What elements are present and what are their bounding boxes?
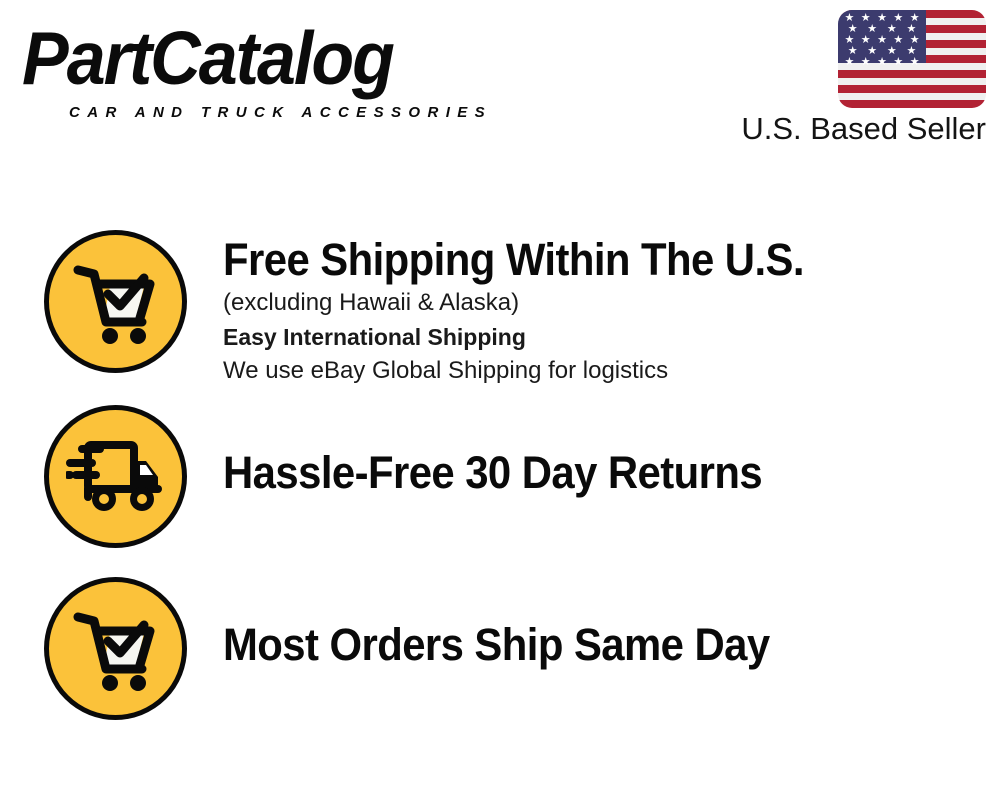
- feature-subdetail: We use eBay Global Shipping for logistic…: [223, 354, 1000, 388]
- feature-title: Hassle-Free 30 Day Returns: [223, 447, 946, 499]
- flag-canton: ★★★★★ ★★★★ ★★★★★ ★★★★ ★★★★★: [838, 10, 926, 63]
- delivery-truck-icon: [44, 405, 187, 548]
- feature-row: Hassle-Free 30 Day Returns: [0, 405, 1000, 577]
- brand-wordmark: PartCatalog: [22, 18, 492, 98]
- feature-title: Most Orders Ship Same Day: [223, 619, 946, 671]
- us-flag-icon: ★★★★★ ★★★★ ★★★★★ ★★★★ ★★★★★: [838, 10, 986, 108]
- brand-logo[interactable]: PartCatalog CAR AND TRUCK ACCESSORIES: [22, 18, 492, 118]
- feature-text: Free Shipping Within The U.S. (excluding…: [187, 230, 1000, 388]
- feature-row: Most Orders Ship Same Day: [0, 577, 1000, 752]
- us-based-seller-badge: ★★★★★ ★★★★ ★★★★★ ★★★★ ★★★★★ U.S. Based S…: [686, 10, 986, 148]
- seller-label: U.S. Based Seller: [686, 110, 986, 148]
- feature-subheading: Easy International Shipping: [223, 320, 1000, 354]
- feature-list: Free Shipping Within The U.S. (excluding…: [0, 230, 1000, 752]
- promo-banner: PartCatalog CAR AND TRUCK ACCESSORIES ★★…: [0, 0, 1000, 800]
- feature-subnote: (excluding Hawaii & Alaska): [223, 286, 1000, 320]
- shopping-cart-check-icon: [44, 230, 187, 373]
- brand-tagline: CAR AND TRUCK ACCESSORIES: [69, 104, 492, 122]
- feature-text: Most Orders Ship Same Day: [187, 577, 1000, 671]
- shopping-cart-check-icon: [44, 577, 187, 720]
- feature-text: Hassle-Free 30 Day Returns: [187, 405, 1000, 499]
- feature-title: Free Shipping Within The U.S.: [223, 234, 946, 286]
- feature-row: Free Shipping Within The U.S. (excluding…: [0, 230, 1000, 405]
- flag-star-row: ★★★★★: [838, 57, 926, 68]
